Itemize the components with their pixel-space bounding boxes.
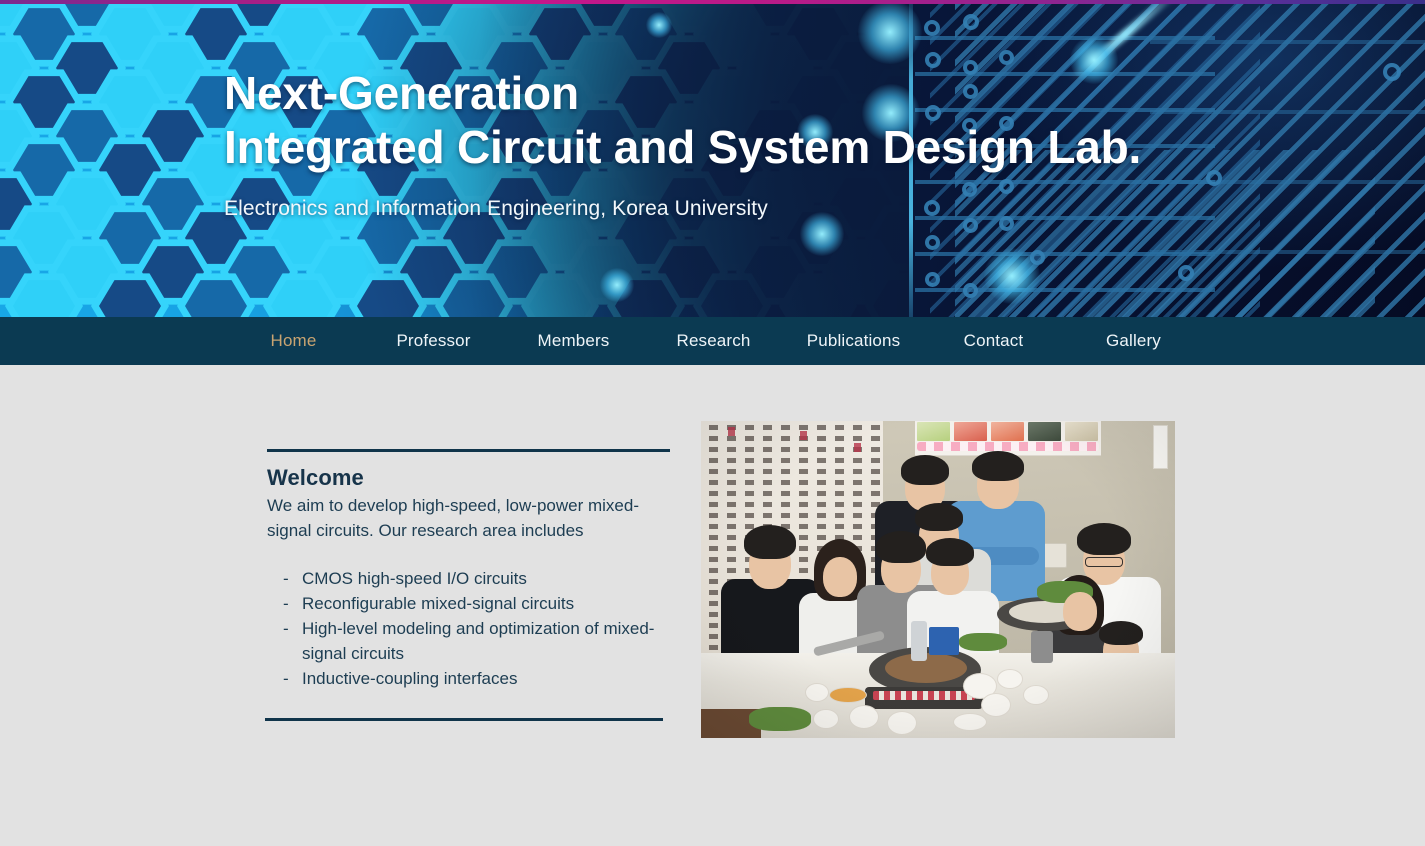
welcome-heading: Welcome [267,465,671,491]
photo-bowl [813,709,839,729]
glow-dot [646,12,672,38]
pcb-via-pad [924,20,940,36]
main-navigation-bar: Home Professor Members Research Publicat… [0,317,1425,365]
photo-lettuce-basket [749,707,811,731]
photo-bowl [849,705,879,729]
page-content: Welcome We aim to develop high-speed, lo… [0,365,1425,846]
photo-bowl [887,711,917,735]
nav-item-research[interactable]: Research [650,317,777,365]
photo-bowl [829,687,867,703]
nav-item-home[interactable]: Home [230,317,357,365]
group-photo [701,421,1175,738]
pcb-via-pad [925,235,940,250]
lab-website-page: Next-Generation Integrated Circuit and S… [0,0,1425,846]
glow-dot [600,268,634,302]
list-item: - High-level modeling and optimization o… [280,616,671,666]
research-area-list: - CMOS high-speed I/O circuits - Reconfi… [267,566,671,692]
bullet-dash: - [283,566,289,591]
pcb-via-pad [963,283,978,298]
banner-subtitle: Electronics and Information Engineering,… [224,197,1141,221]
pcb-via-pad [999,50,1014,65]
list-item-label: Reconfigurable mixed-signal circuits [302,594,574,613]
photo-bowl [997,669,1023,689]
nav-item-contact[interactable]: Contact [930,317,1057,365]
photo-bowl [953,713,987,731]
banner-title-line-2: Integrated Circuit and System Design Lab… [224,120,1141,174]
photo-drink-carton [929,627,959,655]
welcome-section: Welcome We aim to develop high-speed, lo… [267,465,671,691]
pcb-via-pad [925,272,940,287]
list-item-label: High-level modeling and optimization of … [302,619,654,663]
photo-menu-board [915,421,1101,456]
photo-hanging-scroll [1153,425,1168,469]
top-accent-rule [0,0,1425,4]
nav-item-gallery[interactable]: Gallery [1070,317,1197,365]
list-item: - Inductive-coupling interfaces [280,666,671,691]
nav-item-publications[interactable]: Publications [790,317,917,365]
bullet-dash: - [283,666,289,691]
pcb-via-pad [1383,63,1401,81]
list-item: - CMOS high-speed I/O circuits [280,566,671,591]
banner-title-line-1: Next-Generation [224,66,1141,120]
photo-bottle [911,621,927,661]
photo-lettuce-basket [959,633,1007,651]
bullet-dash: - [283,616,289,641]
site-banner: Next-Generation Integrated Circuit and S… [0,0,1425,317]
nav-item-professor[interactable]: Professor [370,317,497,365]
photo-bowl [981,693,1011,717]
photo-bowl [1023,685,1049,705]
pcb-via-pad [963,14,979,30]
welcome-top-rule [267,449,670,452]
pcb-via-pad [1178,265,1194,281]
photo-bowl [805,683,829,702]
list-item: - Reconfigurable mixed-signal circuits [280,591,671,616]
pcb-via-pad [1206,170,1222,186]
nav-item-members[interactable]: Members [510,317,637,365]
banner-text-group: Next-Generation Integrated Circuit and S… [224,66,1141,221]
photo-stove-burner [873,691,975,700]
welcome-paragraph: We aim to develop high-speed, low-power … [267,493,671,544]
glow-dot [984,248,1040,304]
welcome-bottom-rule [265,718,663,721]
photo-pot [1031,631,1053,663]
list-item-label: CMOS high-speed I/O circuits [302,569,527,588]
bullet-dash: - [283,591,289,616]
navigation-items-container: Home Professor Members Research Publicat… [0,317,1425,365]
list-item-label: Inductive-coupling interfaces [302,669,517,688]
